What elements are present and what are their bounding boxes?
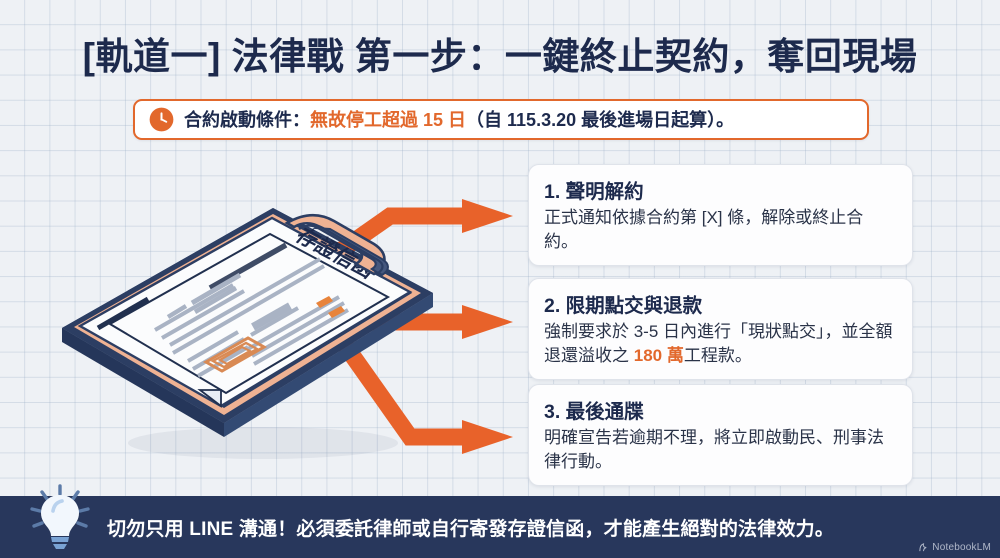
step-1-text: 正式通知依據合約第 [X] 條，解除或終止合約。 — [544, 208, 863, 251]
step-2-text-b: 工程款。 — [684, 346, 752, 365]
step-card-1[interactable]: 1. 聲明解約 正式通知依據合約第 [X] 條，解除或終止合約。 — [528, 164, 913, 266]
step-card-1-title: 1. 聲明解約 — [544, 175, 897, 204]
step-card-1-body: 正式通知依據合約第 [X] 條，解除或終止合約。 — [544, 206, 897, 254]
watermark-label: NotebookLM — [932, 542, 991, 553]
clipboard-shadow — [128, 427, 398, 459]
infographic-canvas: [軌道一] 法律戰 第一步：一鍵終止契約，奪回現場 合約啟動條件：無故停工超過 … — [0, 0, 1000, 558]
step-card-3-body: 明確宣告若逾期不理，將立即啟動民、刑事法律行動。 — [544, 426, 897, 474]
step-card-2-body: 強制要求於 3-5 日內進行「現狀點交」，並全額退還溢收之 180 萬工程款。 — [544, 320, 897, 368]
watermark: NotebookLM — [918, 542, 991, 553]
step-3-text: 明確宣告若逾期不理，將立即啟動民、刑事法律行動。 — [544, 428, 884, 471]
notebooklm-icon — [918, 542, 929, 553]
lightbulb-icon — [23, 481, 97, 555]
step-card-2[interactable]: 2. 限期點交與退款 強制要求於 3-5 日內進行「現狀點交」，並全額退還溢收之… — [528, 278, 913, 380]
clipboard-illustration: 存證信函 — [58, 175, 458, 475]
step-card-3-title: 3. 最後通牒 — [544, 395, 897, 424]
step-card-3[interactable]: 3. 最後通牒 明確宣告若逾期不理，將立即啟動民、刑事法律行動。 — [528, 384, 913, 486]
footer-bar: 切勿只用 LINE 溝通！必須委託律師或自行寄發存證信函，才能產生絕對的法律效力… — [0, 496, 1000, 558]
step-card-2-title: 2. 限期點交與退款 — [544, 289, 897, 318]
step-2-amount: 180 萬 — [634, 346, 684, 365]
footer-message: 切勿只用 LINE 溝通！必須委託律師或自行寄發存證信函，才能產生絕對的法律效力… — [107, 496, 834, 558]
